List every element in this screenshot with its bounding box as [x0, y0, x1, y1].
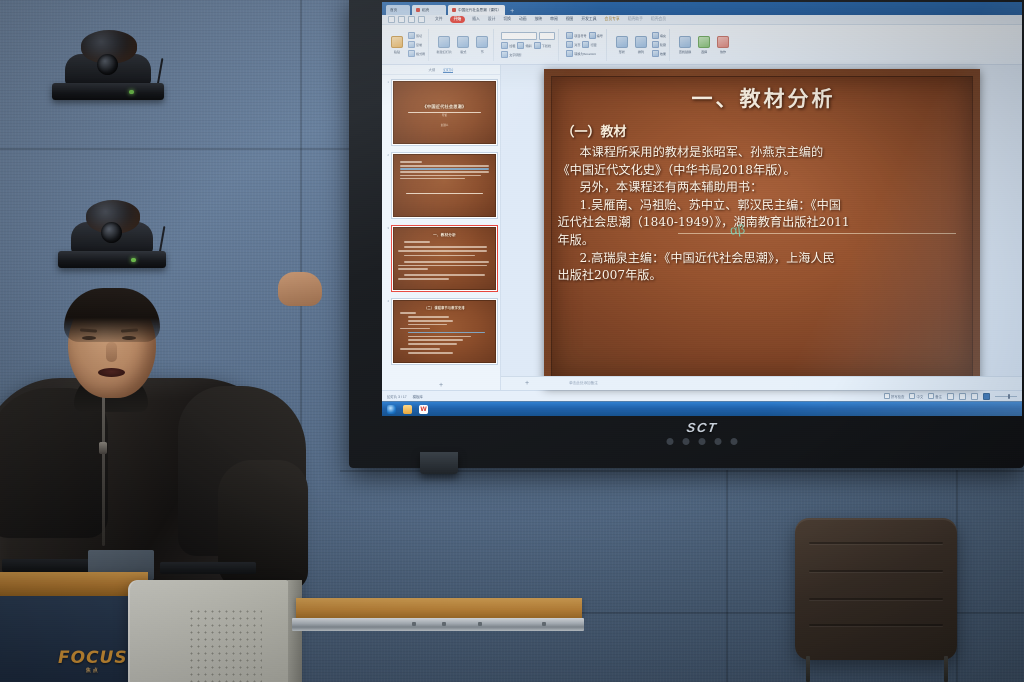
- thumbnail-title: （二）课程章节与教学安排: [394, 305, 495, 310]
- paragraph-row-1: 项目符号 编号: [566, 32, 603, 39]
- editor-workspace: 大纲 幻灯片 1 《中国近代社会思潮》 导论: [382, 65, 1022, 390]
- slideshow-icon[interactable]: [983, 393, 990, 400]
- ribbon-tab-file[interactable]: 文件: [434, 17, 444, 22]
- reading-view-icon[interactable]: [971, 393, 978, 400]
- tab-home[interactable]: 首页: [386, 5, 410, 15]
- ribbon-tab-home[interactable]: 开始: [450, 16, 466, 23]
- thumbnail-title: 《中国近代社会思潮》: [394, 104, 495, 110]
- slide-content[interactable]: 一、教材分析 （一）教材 本课程所采用的教材是张昭军、孙燕京主编的 《中国近代文…: [558, 83, 970, 377]
- presenter-nose: [106, 342, 117, 362]
- normal-view-icon[interactable]: [947, 393, 954, 400]
- thumbnail-number: 1: [384, 79, 389, 84]
- tab-outline[interactable]: 大纲: [429, 67, 436, 72]
- folder-icon[interactable]: [403, 405, 412, 414]
- slide-counter: 幻灯片 3 / 17: [387, 394, 407, 399]
- clipboard-small-commands: 剪切 复制 格式刷: [408, 29, 425, 61]
- thumbnail-slide-2[interactable]: [391, 152, 498, 219]
- cursor-mark-icon: αβ: [729, 221, 745, 237]
- slide-paragraph: 近代社会思潮（1840-1949）》，湖南教育出版社2011: [558, 214, 970, 231]
- windows-taskbar[interactable]: W: [382, 401, 1022, 416]
- volume-icon[interactable]: [715, 438, 722, 445]
- layout-button[interactable]: 版式: [455, 36, 471, 54]
- keyboard-tray-rail[interactable]: [292, 618, 584, 631]
- thumbnail-title: 一、教材分析: [394, 233, 495, 238]
- redo-icon[interactable]: [408, 16, 415, 23]
- font-controls: 加粗 倾斜 下划线 文字阴影: [501, 29, 555, 61]
- slide-title: 一、教材分析: [558, 83, 970, 113]
- effects-button[interactable]: 效果: [652, 50, 666, 57]
- bullets-button[interactable]: 项目符号: [566, 32, 586, 39]
- thumbnail-subtitle: 导论: [394, 113, 495, 117]
- arrange-icon: [635, 36, 647, 48]
- thumbnail-number: 2: [384, 152, 389, 157]
- ribbon-group-slides: 新建幻灯片 版式 节: [433, 29, 494, 61]
- template-button[interactable]: 模板库: [413, 394, 423, 399]
- text-shadow-button[interactable]: 文字阴影: [501, 51, 521, 58]
- ribbon-group-editing: 查找替换 选择 协作: [674, 29, 734, 61]
- list-item[interactable]: 2: [384, 152, 498, 219]
- camera-status-led: [131, 258, 136, 262]
- quick-access-toolbar[interactable]: [388, 16, 425, 23]
- new-slide-button[interactable]: 新建幻灯片: [436, 36, 452, 54]
- camera-lens-icon: [97, 54, 118, 75]
- slide-paragraph: 本课程所采用的教材是张昭军、孙燕京主编的: [558, 144, 970, 161]
- font-family-select[interactable]: [501, 32, 537, 40]
- thumbnail-slide-3-selected[interactable]: 一、教材分析: [391, 225, 498, 292]
- desk-surface-right: [296, 598, 582, 620]
- list-item[interactable]: 3 一、教材分析: [384, 225, 498, 292]
- wall-seam: [726, 470, 728, 682]
- thumbnail-preview: [393, 154, 496, 217]
- drawing-small-commands: 填充 轮廓 效果: [652, 29, 666, 61]
- ribbon-tab-view[interactable]: 视图: [565, 17, 575, 22]
- thumbnail-pane-tabs[interactable]: 大纲 幻灯片: [382, 65, 500, 75]
- ribbon-tab-vip[interactable]: 稻壳会员: [650, 17, 667, 22]
- thumbnail-number: 4: [384, 298, 389, 303]
- spellcheck-button[interactable]: 拼写检查: [884, 393, 905, 399]
- ribbon-tab-transitions[interactable]: 切换: [502, 17, 512, 22]
- camera-cable: [157, 58, 164, 86]
- ribbon-tab-animations[interactable]: 动画: [518, 17, 528, 22]
- save-icon[interactable]: [388, 16, 395, 23]
- shapes-button[interactable]: 形状: [614, 36, 630, 54]
- add-slide-button[interactable]: +: [382, 380, 500, 390]
- slide-underline: [678, 233, 956, 234]
- add-note-button[interactable]: +: [525, 380, 529, 387]
- camera-status-led: [129, 90, 134, 94]
- current-slide[interactable]: 一、教材分析 （一）教材 本课程所采用的教材是张昭军、孙燕京主编的 《中国近代文…: [544, 69, 980, 387]
- ribbon-tab-design[interactable]: 设计: [487, 17, 497, 22]
- camera-cable: [159, 226, 166, 254]
- copy-button[interactable]: 复制: [408, 41, 425, 48]
- display-brand-bar: SCT: [382, 418, 1022, 456]
- tab-home-label: 首页: [390, 8, 397, 13]
- new-slide-label: 新建幻灯片: [437, 49, 452, 54]
- notes-toggle-button[interactable]: 备注: [928, 393, 942, 399]
- arrange-label: 排列: [638, 49, 644, 54]
- slide-canvas-pane[interactable]: 一、教材分析 （一）教材 本课程所采用的教材是张昭军、孙燕京主编的 《中国近代文…: [501, 65, 1022, 390]
- ribbon-tab-developer[interactable]: 开发工具: [580, 17, 597, 22]
- slide-paragraph: 1.吴雁南、冯祖贻、苏中立、郭汉民主编：《中国: [558, 197, 970, 214]
- share-label: 协作: [720, 49, 726, 54]
- ribbon-toolbar[interactable]: 粘贴 剪切 复制 格式刷 新建幻灯片: [382, 25, 1022, 65]
- find-label: 查找替换: [679, 49, 691, 54]
- status-bar[interactable]: 幻灯片 3 / 17 模板库 拼写检查 中文 备注: [382, 390, 1022, 401]
- slide-paragraph: 出版社2007年版。: [558, 267, 970, 284]
- ribbon-group-paragraph: 项目符号 编号 对齐 行距 转换为SmartArt: [563, 29, 607, 61]
- shapes-label: 形状: [619, 49, 625, 54]
- presenter-eye-left: [82, 336, 96, 340]
- thumbnail-slide-4[interactable]: （二）课程章节与教学安排: [391, 298, 498, 365]
- chair-backrest: [795, 518, 957, 660]
- ribbon-group-clipboard: 粘贴 剪切 复制 格式刷: [386, 29, 429, 61]
- desk-surface-left: [0, 572, 148, 598]
- zoom-slider[interactable]: [995, 396, 1017, 397]
- tab-document-2-label: 中国近代社会思潮（课件）: [458, 8, 501, 13]
- bold-button[interactable]: 加粗: [501, 42, 515, 49]
- ptz-camera-top: [52, 28, 164, 100]
- notes-pane[interactable]: + 单击此处添加备注: [501, 376, 1022, 390]
- status-bar-right[interactable]: 拼写检查 中文 备注: [884, 393, 1017, 400]
- wps-icon[interactable]: W: [419, 405, 428, 414]
- podium-brand-text: FOCUS: [58, 648, 128, 668]
- ribbon-group-font: 加粗 倾斜 下划线 文字阴影: [498, 29, 559, 61]
- interactive-smart-display[interactable]: 首页 稻壳 中国近代社会思潮（课件） +: [349, 0, 1024, 468]
- select-icon: [698, 36, 710, 48]
- underline-button[interactable]: 下划线: [534, 42, 551, 49]
- cut-button[interactable]: 剪切: [408, 32, 425, 39]
- select-button[interactable]: 选择: [696, 36, 712, 54]
- thumbnail-preview: 一、教材分析: [393, 227, 496, 290]
- section-button[interactable]: 节: [474, 36, 490, 54]
- slide-paragraph: 另外，本课程还有两本辅助用书：: [558, 179, 970, 196]
- paste-label: 粘贴: [394, 49, 400, 54]
- paragraph-row-2: 对齐 行距: [566, 41, 603, 48]
- slide-thumbnail-pane[interactable]: 大纲 幻灯片 1 《中国近代社会思潮》 导论: [382, 65, 501, 390]
- presenter-hair: [64, 288, 160, 342]
- paragraph-controls: 项目符号 编号 对齐 行距 转换为SmartArt: [566, 29, 603, 61]
- align-button[interactable]: 对齐: [566, 41, 580, 48]
- slide-heading: （一）教材: [562, 121, 970, 140]
- thumbnail-slide-1[interactable]: 《中国近代社会思潮》 导论 主讲人: [391, 79, 498, 146]
- share-button[interactable]: 协作: [715, 36, 731, 54]
- ptz-camera-bottom: [58, 198, 166, 268]
- lectern-speaker-grille: [188, 608, 262, 682]
- thumbnail-author: 主讲人: [394, 123, 495, 127]
- find-replace-button[interactable]: 查找替换: [677, 36, 693, 54]
- paste-icon: [391, 36, 403, 48]
- tab-document-2[interactable]: 中国近代社会思潮（课件）: [448, 5, 505, 15]
- notes-placeholder[interactable]: 单击此处添加备注: [569, 381, 598, 386]
- podium-brand-label: FOCUS 焦点: [58, 648, 128, 674]
- share-icon: [717, 36, 729, 48]
- chair-leg-right: [944, 656, 948, 682]
- section-icon: [476, 36, 488, 48]
- font-size-select[interactable]: [539, 32, 555, 40]
- ribbon-tab-review[interactable]: 审阅: [549, 17, 559, 22]
- tab-document-1[interactable]: 稻壳: [412, 5, 446, 15]
- jacket-zipper-pull: [99, 442, 107, 454]
- sorter-view-icon[interactable]: [959, 393, 966, 400]
- presenter-mouth: [98, 368, 125, 377]
- list-item[interactable]: 4 （二）课程章节与教学安排: [384, 298, 498, 365]
- thumbnail-preview: 《中国近代社会思潮》 导论 主讲人: [393, 81, 496, 144]
- display-control-buttons[interactable]: [667, 438, 738, 445]
- print-icon[interactable]: [418, 16, 425, 23]
- menu-icon[interactable]: [683, 438, 690, 445]
- convert-smartart-button[interactable]: 转换为SmartArt: [566, 50, 596, 57]
- ribbon-tab-member[interactable]: 会员专享: [604, 17, 621, 22]
- podium-brand-subtext: 焦点: [58, 667, 128, 674]
- layout-icon: [457, 36, 469, 48]
- display-screen[interactable]: 首页 稻壳 中国近代社会思潮（课件） +: [382, 2, 1022, 416]
- slide-paragraph: 《中国近代文化史》（中华书局2018年版）。: [558, 162, 970, 179]
- lecture-room-photo: 首页 稻壳 中国近代社会思潮（课件） +: [0, 0, 1024, 682]
- new-tab-button[interactable]: +: [507, 8, 517, 15]
- numbering-button[interactable]: 编号: [589, 32, 603, 39]
- font-row-2: 加粗 倾斜 下划线: [501, 42, 555, 49]
- ribbon-tab-slideshow[interactable]: 放映: [534, 17, 544, 22]
- list-item[interactable]: 1 《中国近代社会思潮》 导论 主讲人: [384, 79, 498, 146]
- wps-doc-icon: [416, 8, 420, 12]
- slide-paragraph: 年版。: [558, 232, 970, 249]
- wps-presentation-window[interactable]: 首页 稻壳 中国近代社会思潮（课件） +: [382, 2, 1022, 416]
- window-tab-bar[interactable]: 首页 稻壳 中国近代社会思潮（课件） +: [382, 2, 1022, 15]
- chair-leg-left: [806, 656, 810, 682]
- undo-icon[interactable]: [398, 16, 405, 23]
- camera-mount-base: [52, 83, 164, 100]
- ribbon-tab-insert[interactable]: 插入: [471, 17, 481, 22]
- outline-button[interactable]: 轮廓: [652, 41, 666, 48]
- thumbnail-list[interactable]: 1 《中国近代社会思潮》 导论 主讲人: [382, 75, 500, 380]
- presenter-eye-right: [122, 336, 136, 340]
- shapes-icon: [616, 36, 628, 48]
- thumbnail-number: 3: [384, 225, 389, 230]
- ribbon-tab-assistant[interactable]: 稻壳助手: [627, 17, 644, 22]
- thumbnail-preview: （二）课程章节与教学安排: [393, 300, 496, 363]
- display-brand-label: SCT: [686, 420, 719, 435]
- language-button[interactable]: 中文: [909, 393, 923, 399]
- italic-button[interactable]: 倾斜: [517, 42, 531, 49]
- tab-document-1-label: 稻壳: [422, 8, 429, 13]
- paste-button[interactable]: 粘贴: [389, 36, 405, 54]
- monitor-right: [160, 562, 256, 574]
- layout-label: 版式: [460, 49, 466, 54]
- find-icon: [679, 36, 691, 48]
- display-wall-mount: [420, 452, 458, 474]
- presenter-hand-right: [278, 272, 322, 306]
- source-icon[interactable]: [699, 438, 706, 445]
- wps-ppt-icon: [452, 8, 456, 12]
- ie-browser-icon[interactable]: [387, 405, 396, 414]
- power-icon[interactable]: [667, 438, 674, 445]
- ir-sensor-icon: [731, 438, 738, 445]
- tab-slides[interactable]: 幻灯片: [443, 67, 453, 73]
- font-row-1: [501, 32, 555, 40]
- arrange-button[interactable]: 排列: [633, 36, 649, 54]
- new-slide-icon: [438, 36, 450, 48]
- slide-paragraph: 2.高瑞泉主编：《中国近代社会思潮》，上海人民: [558, 250, 970, 267]
- format-painter-button[interactable]: 格式刷: [408, 50, 425, 57]
- paragraph-row-3: 转换为SmartArt: [566, 50, 603, 57]
- section-label: 节: [481, 49, 484, 54]
- font-row-3: 文字阴影: [501, 51, 555, 58]
- select-label: 选择: [701, 49, 707, 54]
- camera-mount-base: [58, 251, 166, 268]
- ribbon-tab-strip[interactable]: 文件 开始 插入 设计 切换 动画 放映 审阅 视图 开发工具 会员专享 稻壳助…: [382, 15, 1022, 25]
- line-spacing-button[interactable]: 行距: [582, 41, 596, 48]
- fill-button[interactable]: 填充: [652, 32, 666, 39]
- lectern-side-edge: [288, 580, 302, 682]
- jacket-zipper: [102, 396, 105, 546]
- ribbon-group-drawing: 形状 排列 填充 轮廓 效果: [611, 29, 670, 61]
